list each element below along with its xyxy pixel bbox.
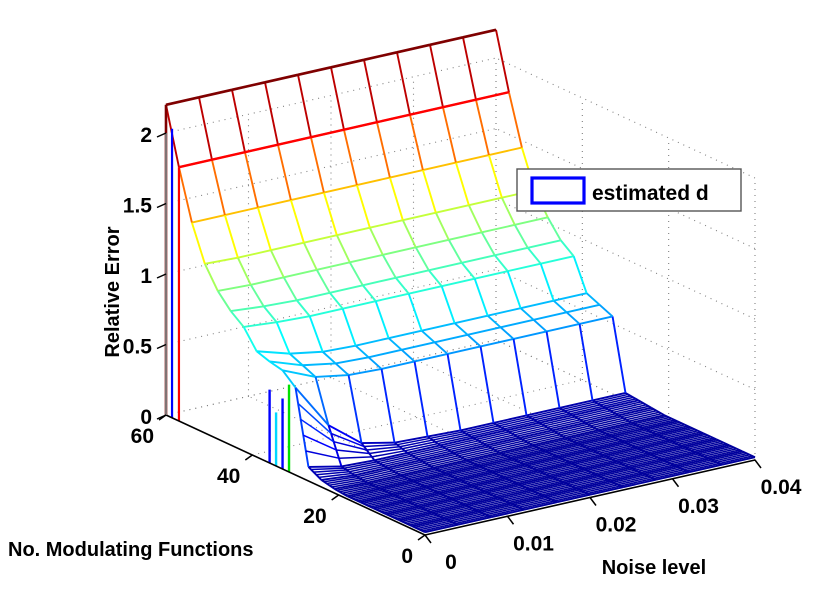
tick-mark xyxy=(418,535,425,540)
tick-label: 40 xyxy=(217,465,240,488)
tick-label: 1 xyxy=(140,265,152,288)
tick-label: 0.03 xyxy=(678,495,719,518)
legend-swatch-estimated-d xyxy=(532,178,584,203)
tick-label: 0.5 xyxy=(123,336,153,359)
tick-mark xyxy=(157,133,166,137)
z-axis-label: Relative Error xyxy=(102,226,124,357)
tick-label: 2 xyxy=(140,124,152,147)
tick-label: 20 xyxy=(303,505,326,528)
tick-label: 0 xyxy=(445,551,457,574)
x-axis-label: Noise level xyxy=(602,557,707,579)
tick-mark xyxy=(157,274,166,278)
tick-mark xyxy=(590,498,596,506)
tick-mark xyxy=(157,204,166,208)
figure-3d-surface-plot: 00.010.020.030.04020406000.511.52 Relati… xyxy=(0,0,830,602)
tick-label: 0 xyxy=(140,406,152,429)
surface-plot-canvas: 00.010.020.030.04020406000.511.52 Relati… xyxy=(0,0,830,602)
tick-label: 0.02 xyxy=(596,514,637,537)
tick-mark xyxy=(332,495,339,500)
tick-mark xyxy=(673,479,679,487)
legend-label-estimated-d: estimated d xyxy=(592,182,709,205)
legend[interactable]: estimated d xyxy=(517,169,741,211)
tick-mark xyxy=(425,535,431,543)
tick-label: 0.01 xyxy=(513,532,554,555)
y-axis-label: No. Modulating Functions xyxy=(8,539,254,561)
tick-label: 0 xyxy=(401,545,413,568)
tick-label: 0.04 xyxy=(761,476,802,499)
tick-mark xyxy=(245,455,252,460)
tick-label: 1.5 xyxy=(123,195,153,218)
mesh-surface xyxy=(166,30,755,532)
tick-mark xyxy=(508,516,514,524)
tick-mark xyxy=(157,345,166,349)
tick-mark xyxy=(755,460,761,468)
